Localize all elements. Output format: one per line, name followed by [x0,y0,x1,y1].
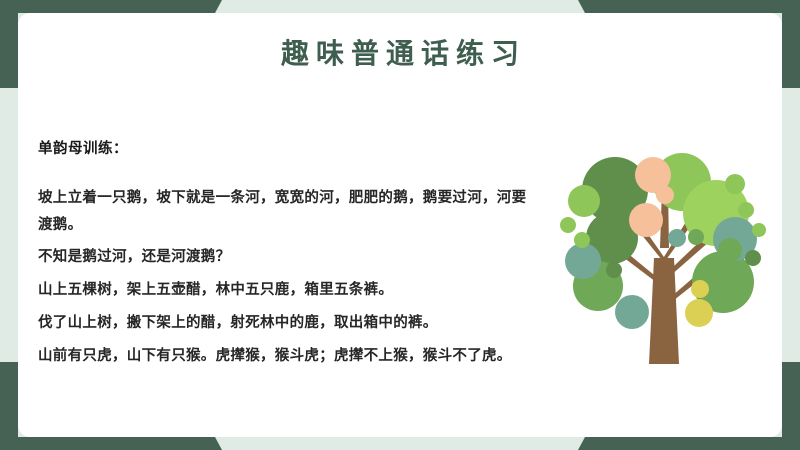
tree-illustration [552,148,776,378]
practice-line-1: 坡上立着一只鹅，坡下就是一条河，宽宽的河，肥肥的鹅，鹅要过河，河要渡鹅。 [38,185,538,239]
practice-line-4: 伐了山上树，搬下架上的醋，射死林中的鹿，取出箱中的裤。 [38,310,538,337]
practice-line-3: 山上五棵树，架上五壶醋，林中五只鹿，箱里五条裤。 [38,277,538,304]
practice-line-5: 山前有只虎，山下有只猴。虎撵猴，猴斗虎；虎撵不上猴，猴斗不了虎。 [38,343,538,370]
practice-line-2: 不知是鹅过河，还是河渡鹅？ [38,244,538,271]
slide-canvas: 趣味普通话练习 单韵母训练： 坡上立着一只鹅，坡下就是一条河，宽宽的河，肥肥的鹅… [0,0,800,450]
section-subheading: 单韵母训练： [38,140,538,159]
page-title: 趣味普通话练习 [0,32,800,72]
content-body: 单韵母训练： 坡上立着一只鹅，坡下就是一条河，宽宽的河，肥肥的鹅，鹅要过河，河要… [38,140,538,370]
